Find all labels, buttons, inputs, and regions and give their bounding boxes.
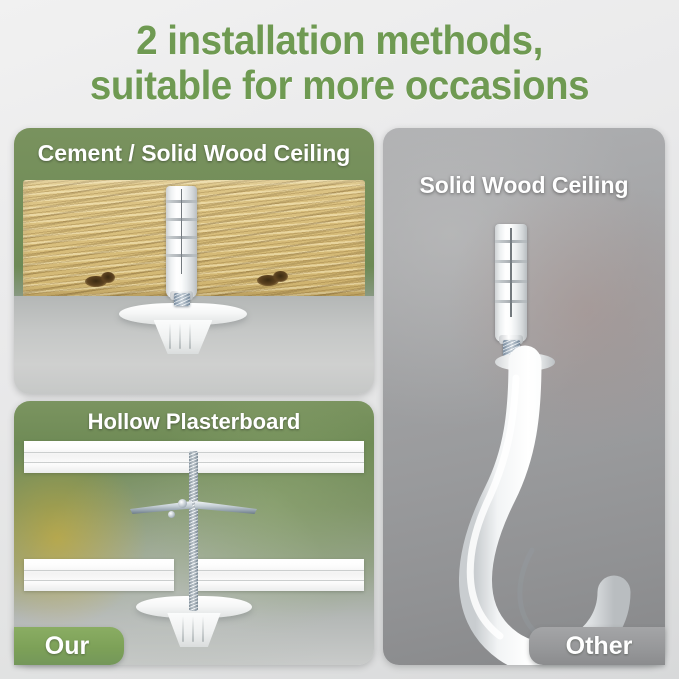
product-infographic: 2 installation methods, suitable for mor… bbox=[0, 0, 679, 679]
wood-knot-icon bbox=[101, 272, 115, 283]
threaded-rod bbox=[189, 451, 198, 611]
badge-other: Other bbox=[529, 627, 665, 665]
white-ceiling-hook bbox=[428, 344, 638, 665]
medallion-flute bbox=[192, 616, 194, 642]
hook-shape-icon bbox=[428, 344, 638, 665]
anchor-rib bbox=[162, 254, 200, 257]
medallion-flute bbox=[169, 323, 171, 349]
zinc-screw bbox=[174, 293, 190, 306]
plasterboard-layer-bottom-left bbox=[24, 559, 174, 591]
plastic-expansion-anchor bbox=[495, 224, 527, 342]
anchor-rib bbox=[162, 218, 200, 221]
plastic-expansion-anchor bbox=[166, 186, 197, 298]
title-line-1: 2 installation methods, bbox=[20, 18, 658, 63]
wood-knot-icon bbox=[273, 271, 288, 282]
medallion-flute bbox=[202, 616, 204, 642]
panel-other-heading: Solid Wood Ceiling bbox=[383, 128, 665, 197]
anchor-rib bbox=[491, 300, 531, 303]
title-line-2: suitable for more occasions bbox=[20, 63, 658, 108]
panel-cement-heading: Cement / Solid Wood Ceiling bbox=[14, 128, 374, 165]
ceiling-medallion bbox=[119, 303, 247, 365]
toggle-pivot bbox=[178, 499, 187, 508]
badge-our: Our bbox=[14, 627, 124, 665]
medallion-bell bbox=[154, 320, 213, 354]
anchor-rib bbox=[162, 200, 200, 203]
panel-hollow-plasterboard: Hollow Plasterboard bbox=[14, 401, 374, 665]
medallion-flute bbox=[189, 323, 191, 349]
page-title: 2 installation methods, suitable for mor… bbox=[0, 18, 679, 108]
anchor-rib bbox=[491, 240, 531, 243]
medallion-flute bbox=[179, 323, 181, 349]
panel-cement-solid-wood: Cement / Solid Wood Ceiling bbox=[14, 128, 374, 394]
anchor-rib bbox=[491, 280, 531, 283]
anchor-rib bbox=[491, 260, 531, 263]
toggle-pivot bbox=[168, 511, 175, 518]
panel-other-solid-wood: Solid Wood Ceiling bbox=[383, 128, 665, 665]
anchor-rib bbox=[162, 236, 200, 239]
plasterboard-layer-bottom-right bbox=[194, 559, 364, 591]
medallion-flute bbox=[182, 616, 184, 642]
